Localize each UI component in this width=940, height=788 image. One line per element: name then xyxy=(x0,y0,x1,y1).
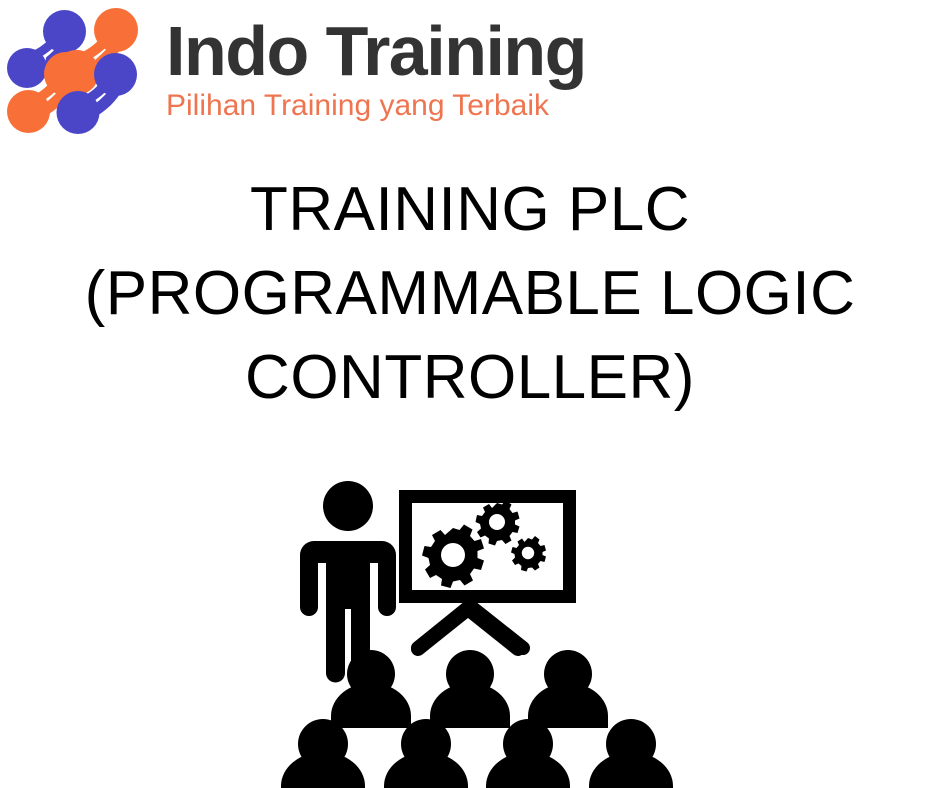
brand-name: Indo Training xyxy=(166,12,636,90)
audience-person xyxy=(430,650,510,728)
brand-wordmark: Indo Training Pilihan Training yang Terb… xyxy=(166,12,636,132)
connected-nodes-logo-icon xyxy=(2,2,142,134)
page-title-line-3: CONTROLLER) xyxy=(0,336,940,420)
audience-back-row xyxy=(331,650,608,728)
audience-person xyxy=(528,650,608,728)
audience-person xyxy=(281,719,365,788)
brand-logo: Indo Training Pilihan Training yang Terb… xyxy=(0,0,640,140)
audience-person xyxy=(384,719,468,788)
tripod-stand-legs xyxy=(418,606,523,648)
page-title: TRAINING PLC (PROGRAMMABLE LOGIC CONTROL… xyxy=(0,168,940,420)
brand-tagline: Pilihan Training yang Terbaik xyxy=(166,88,636,124)
audience-front-row xyxy=(281,719,673,788)
audience-person xyxy=(589,719,673,788)
classroom-training-illustration xyxy=(278,478,678,788)
page-title-line-2: (PROGRAMMABLE LOGIC xyxy=(0,252,940,336)
audience-person xyxy=(486,719,570,788)
page-title-line-1: TRAINING PLC xyxy=(0,168,940,252)
presenter-figure-icon xyxy=(300,481,396,683)
gears-icon xyxy=(422,501,546,589)
